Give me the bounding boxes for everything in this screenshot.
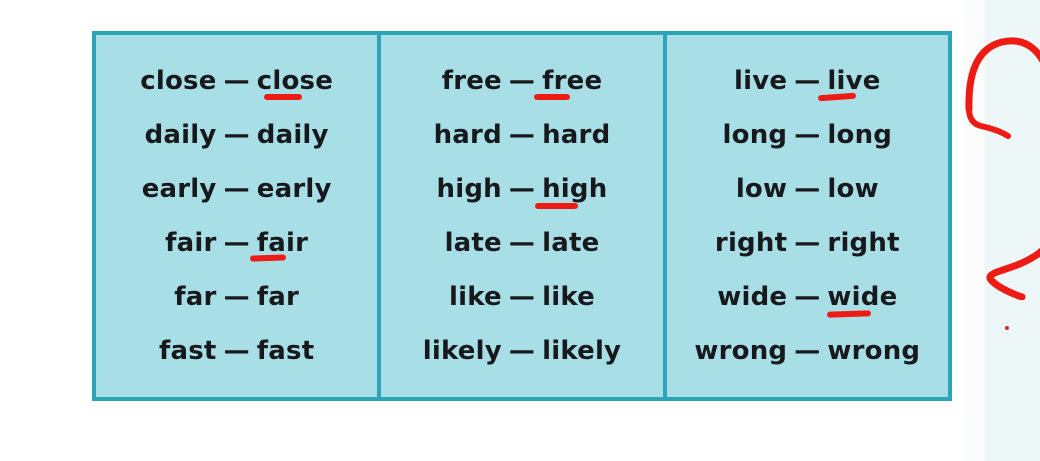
table-row: right—right — [715, 216, 900, 270]
word-pair: wide—wide — [717, 270, 897, 324]
word-left: wrong — [694, 336, 787, 366]
red-ink-dot — [1005, 326, 1009, 330]
em-dash-separator: — — [217, 228, 257, 258]
table-row: fast—fast — [159, 324, 314, 378]
word-right: daily — [257, 120, 329, 150]
em-dash-separator: — — [787, 174, 827, 204]
word-pair: wrong—wrong — [694, 324, 920, 378]
word-left: low — [736, 174, 787, 204]
table-row: low—low — [736, 162, 879, 216]
column-3: live—livelong—longlow—lowright—rightwide… — [663, 35, 948, 397]
em-dash-separator: — — [787, 336, 827, 366]
word-left: hard — [434, 120, 502, 150]
word-pair: live—live — [734, 54, 881, 108]
word-right: hard — [542, 120, 610, 150]
table-row: daily—daily — [145, 108, 329, 162]
word-right: likely — [542, 336, 621, 366]
em-dash-separator: — — [787, 282, 827, 312]
word-right: high — [542, 174, 607, 204]
table-row: far—far — [174, 270, 299, 324]
em-dash-separator: — — [502, 336, 542, 366]
word-pair: high—high — [437, 162, 608, 216]
word-pair: low—low — [736, 162, 879, 216]
em-dash-separator: — — [217, 336, 257, 366]
word-left: likely — [423, 336, 502, 366]
word-right: long — [827, 120, 892, 150]
word-right: wide — [827, 282, 897, 312]
word-left: live — [734, 66, 787, 96]
word-right: far — [257, 282, 299, 312]
word-pair: long—long — [723, 108, 893, 162]
table-row: long—long — [723, 108, 893, 162]
column-1: close—closedaily—dailyearly—earlyfair—fa… — [96, 35, 377, 397]
word-right: fair — [257, 228, 308, 258]
word-right: low — [827, 174, 878, 204]
word-left: far — [174, 282, 216, 312]
word-left: free — [442, 66, 502, 96]
table-row: close—close — [140, 54, 333, 108]
word-left: high — [437, 174, 502, 204]
table-row: likely—likely — [423, 324, 621, 378]
word-right: close — [257, 66, 333, 96]
word-left: fast — [159, 336, 217, 366]
word-pair: like—like — [449, 270, 595, 324]
word-left: long — [723, 120, 788, 150]
table-row: wide—wide — [717, 270, 897, 324]
word-pair: early—early — [142, 162, 332, 216]
word-pair: daily—daily — [145, 108, 329, 162]
word-left: wide — [717, 282, 787, 312]
em-dash-separator: — — [787, 120, 827, 150]
word-right: fast — [257, 336, 315, 366]
word-pair: far—far — [174, 270, 299, 324]
table-row: late—late — [445, 216, 600, 270]
word-left: close — [140, 66, 216, 96]
word-right: free — [542, 66, 602, 96]
right-side-panel — [985, 0, 1040, 461]
table-row: fair—fair — [165, 216, 308, 270]
table-row: live—live — [734, 54, 881, 108]
word-pair: late—late — [445, 216, 600, 270]
word-right: like — [542, 282, 595, 312]
em-dash-separator: — — [502, 120, 542, 150]
word-right: live — [827, 66, 880, 96]
em-dash-separator: — — [217, 120, 257, 150]
word-left: early — [142, 174, 217, 204]
screenshot-canvas: close—closedaily—dailyearly—earlyfair—fa… — [0, 0, 1040, 461]
word-right: right — [827, 228, 899, 258]
word-pair: fast—fast — [159, 324, 314, 378]
column-2: free—freehard—hardhigh—highlate—latelike… — [377, 35, 662, 397]
em-dash-separator: — — [502, 174, 542, 204]
em-dash-separator: — — [787, 228, 827, 258]
em-dash-separator: — — [502, 228, 542, 258]
table-row: early—early — [142, 162, 332, 216]
word-left: daily — [145, 120, 217, 150]
table-row: wrong—wrong — [694, 324, 920, 378]
word-pair: likely—likely — [423, 324, 621, 378]
em-dash-separator: — — [217, 66, 257, 96]
word-pair: free—free — [442, 54, 603, 108]
word-left: late — [445, 228, 502, 258]
word-left: fair — [165, 228, 216, 258]
word-pairs-table: close—closedaily—dailyearly—earlyfair—fa… — [92, 31, 952, 401]
word-pair: right—right — [715, 216, 900, 270]
em-dash-separator: — — [502, 66, 542, 96]
word-left: right — [715, 228, 787, 258]
word-right: late — [542, 228, 599, 258]
table-row: hard—hard — [434, 108, 611, 162]
em-dash-separator: — — [217, 282, 257, 312]
em-dash-separator: — — [787, 66, 827, 96]
word-left: like — [449, 282, 502, 312]
word-right: early — [257, 174, 332, 204]
em-dash-separator: — — [502, 282, 542, 312]
word-pair: fair—fair — [165, 216, 308, 270]
table-row: high—high — [437, 162, 608, 216]
word-pair: close—close — [140, 54, 333, 108]
word-pair: hard—hard — [434, 108, 611, 162]
table-row: like—like — [449, 270, 595, 324]
table-row: free—free — [442, 54, 603, 108]
word-right: wrong — [827, 336, 920, 366]
em-dash-separator: — — [217, 174, 257, 204]
right-soft-band — [962, 0, 985, 461]
